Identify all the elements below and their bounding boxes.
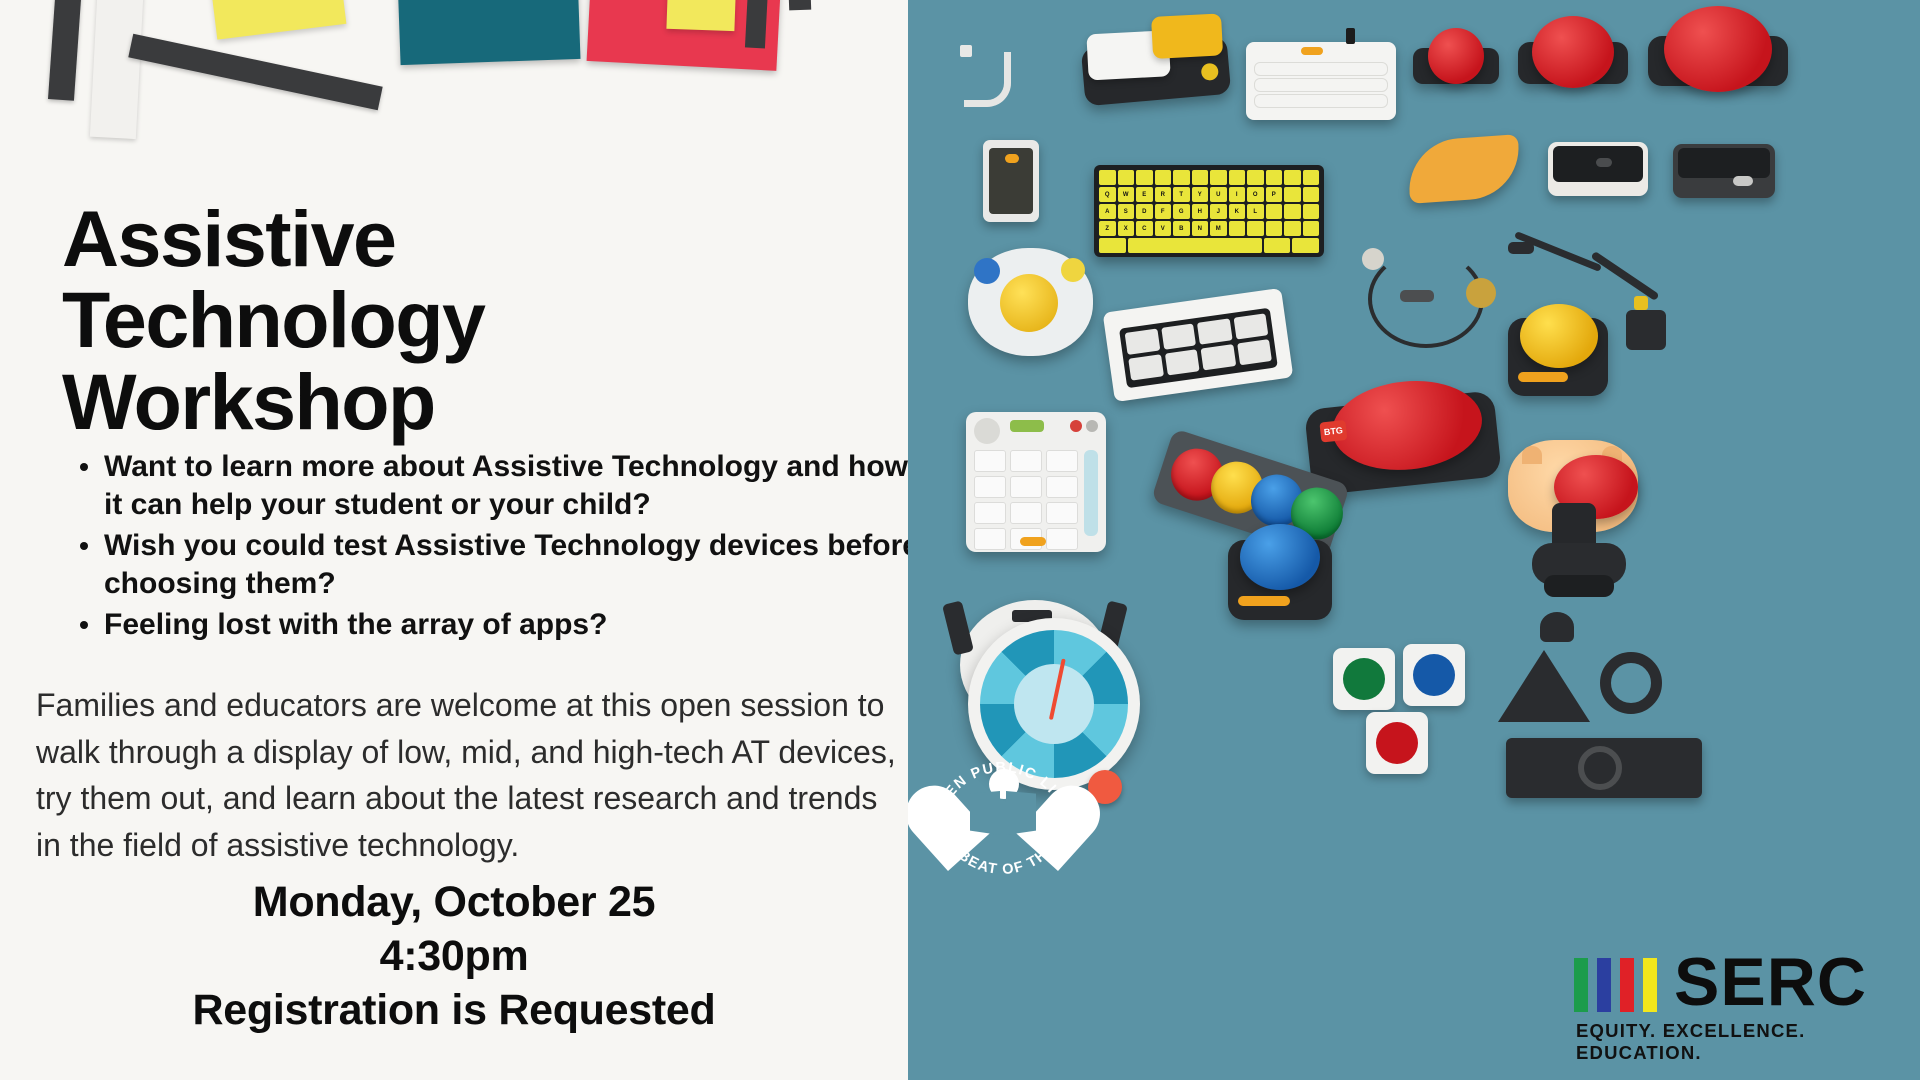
round-mounting-ring xyxy=(1600,652,1662,714)
title-line-3: Workshop xyxy=(62,361,702,442)
left-content-panel: Assistive Technology Workshop Want to le… xyxy=(0,0,908,1080)
headset-microphone-switch xyxy=(1368,250,1484,348)
switch-adapted-device-yellow xyxy=(1081,36,1231,107)
decor-dark-bar-2 xyxy=(128,34,382,110)
usb-cable xyxy=(964,52,1011,107)
red-switch-suction-mount xyxy=(1518,455,1638,605)
title-line-1: Assistive xyxy=(62,198,702,279)
serc-logo: SERC EQUITY. EXCELLENCE. EDUCATION. xyxy=(1574,950,1892,1050)
rectangular-mounting-plate xyxy=(1506,738,1702,798)
open-book-shape xyxy=(970,791,1036,835)
yellow-round-switch-talker xyxy=(1508,318,1608,396)
decor-yellow-note-2 xyxy=(666,0,737,31)
orange-triangle-switch xyxy=(1406,134,1522,204)
event-time: 4:30pm xyxy=(0,929,908,983)
red-round-switch-small xyxy=(1413,48,1499,84)
event-details: Monday, October 25 4:30pm Registration i… xyxy=(0,875,908,1038)
serc-bars-icon xyxy=(1574,958,1657,1012)
poster-canvas: Assistive Technology Workshop Want to le… xyxy=(0,0,1920,1080)
red-square-switch xyxy=(1366,712,1428,774)
red-round-switch-large xyxy=(1648,36,1788,86)
title-line-2: Technology xyxy=(62,279,702,360)
decor-white-bar xyxy=(90,0,146,139)
decor-teal-square xyxy=(396,0,581,65)
triangle-mounting-plate xyxy=(1498,650,1590,722)
list-item: Feeling lost with the array of apps? xyxy=(104,606,908,644)
benefits-list: Want to learn more about Assistive Techn… xyxy=(62,448,908,647)
black-slim-switch-box-1 xyxy=(1548,142,1648,196)
decor-yellow-note-1 xyxy=(208,0,347,40)
event-date: Monday, October 25 xyxy=(0,875,908,929)
device-photo-panel: QWER TYUI OP ASDF GHJK L ZXCV BNM xyxy=(908,0,1920,1080)
joystick-trackball-yellow xyxy=(968,248,1093,356)
decor-dark-bar-1 xyxy=(48,0,82,101)
event-registration-note: Registration is Requested xyxy=(0,983,908,1037)
list-item: Want to learn more about Assistive Techn… xyxy=(104,448,908,524)
library-logo: MERIDEN PUBLIC LIBRARY HEARTBEAT OF THE … xyxy=(920,735,1085,900)
description-paragraph: Families and educators are welcome at th… xyxy=(36,682,896,869)
keypad-communicator xyxy=(966,412,1106,552)
red-round-switch-medium xyxy=(1518,42,1628,84)
green-square-switch xyxy=(1333,648,1395,710)
page-title: Assistive Technology Workshop xyxy=(62,198,702,442)
blue-square-switch xyxy=(1403,644,1465,706)
black-slim-switch-box-2 xyxy=(1673,144,1775,198)
serc-tagline: EQUITY. EXCELLENCE. EDUCATION. xyxy=(1576,1020,1892,1064)
decor-dark-bar-4 xyxy=(787,0,811,10)
usb-switch-interface-hook xyxy=(983,140,1039,222)
large-print-yellow-keyboard: QWER TYUI OP ASDF GHJK L ZXCV BNM xyxy=(1094,165,1324,257)
serc-wordmark: SERC xyxy=(1674,948,1867,1016)
programmable-keypad-grid xyxy=(1103,288,1294,402)
computer-switch-interface-white xyxy=(1246,42,1396,120)
mount-clamp-knob xyxy=(1540,612,1574,642)
list-item: Wish you could test Assistive Technology… xyxy=(104,527,908,603)
blue-round-switch-talker xyxy=(1228,540,1332,620)
heart-book-reader-icon xyxy=(948,769,1058,869)
